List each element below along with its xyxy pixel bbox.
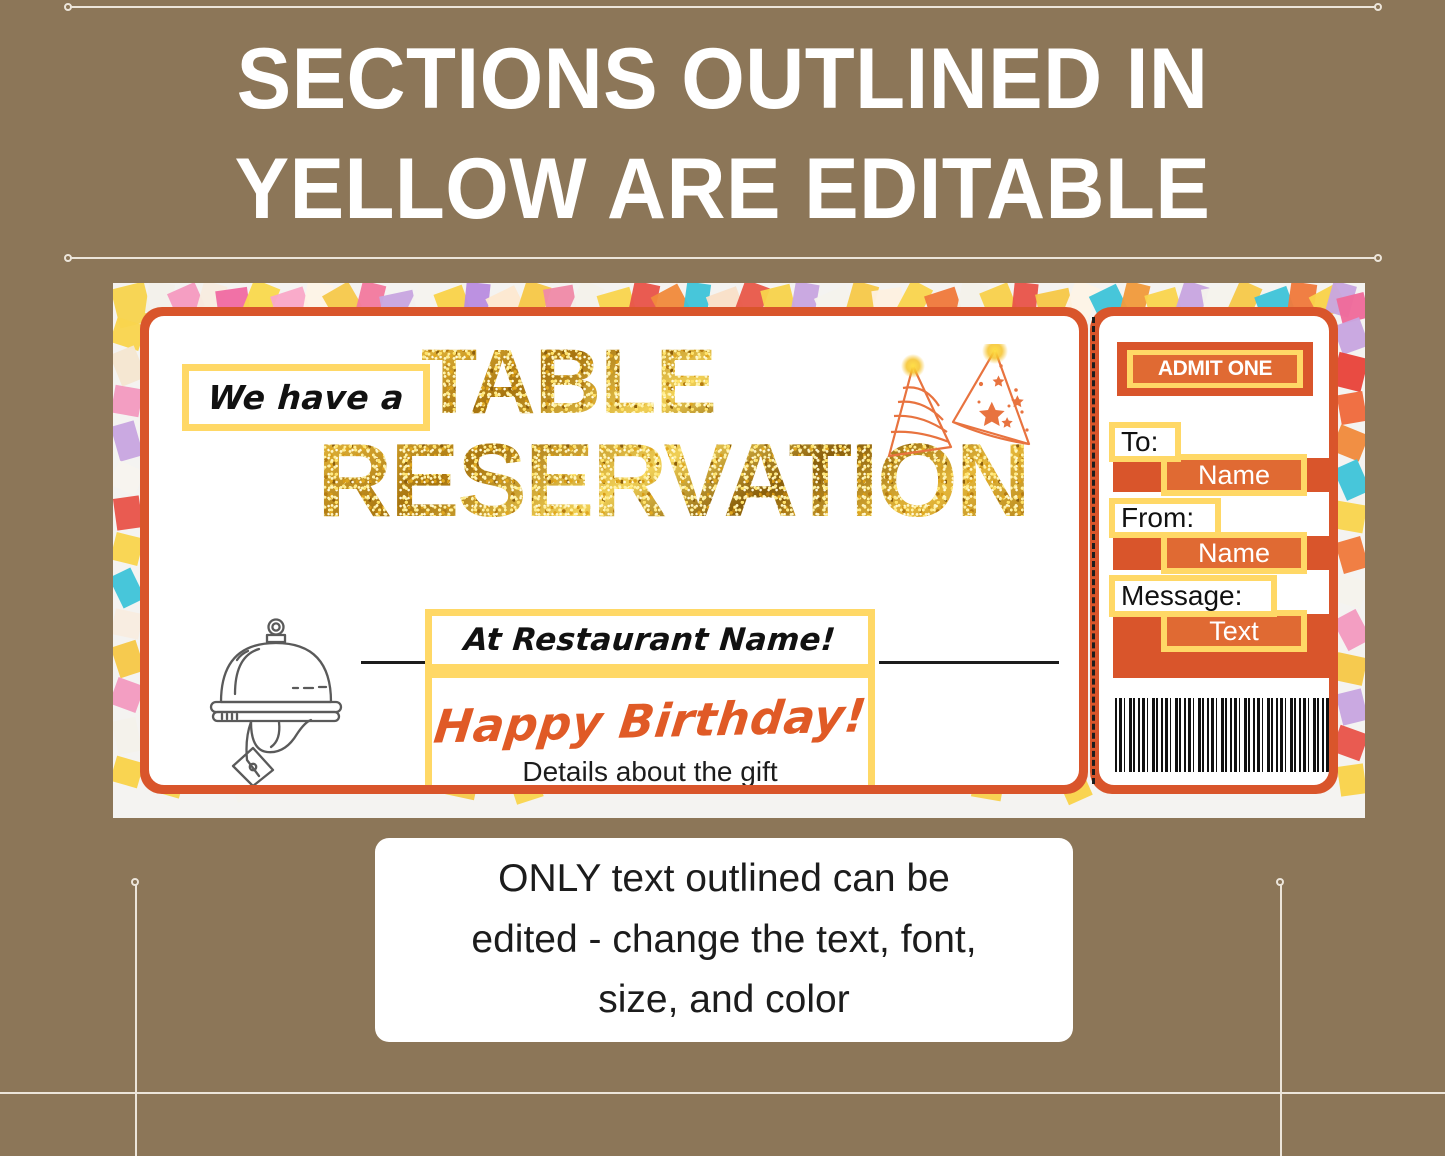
confetti-piece — [113, 385, 143, 417]
perforation-line — [1092, 317, 1095, 784]
caption-text: ONLY text outlined can be edited - chang… — [445, 849, 1002, 1030]
ticket-stub-panel: ADMIT ONE To: Name From: N — [1090, 307, 1338, 794]
confetti-piece — [113, 608, 143, 639]
eyebrow-text: We have a — [207, 378, 406, 417]
confetti-piece — [113, 420, 143, 461]
confetti-piece — [1337, 391, 1365, 425]
confetti-piece — [113, 495, 143, 530]
admit-one-badge: ADMIT ONE — [1117, 342, 1313, 396]
stub-value-from-text: Name — [1198, 540, 1270, 567]
ticket-graphic: We have a TABLE RESERVATION — [140, 307, 1338, 794]
admit-one-label: ADMIT ONE — [1158, 357, 1272, 381]
editable-eyebrow-box[interactable]: We have a — [182, 364, 430, 431]
confetti-piece — [113, 717, 142, 755]
stub-label-from-text: From: — [1121, 504, 1194, 532]
confetti-piece — [1337, 763, 1365, 796]
guide-line-bottom — [0, 1092, 1445, 1094]
stub-value-from[interactable]: Name — [1161, 532, 1307, 574]
stub-label-message[interactable]: Message: — [1109, 575, 1277, 617]
stub-label-to-text: To: — [1121, 428, 1158, 456]
restaurant-name-text: At Restaurant Name! — [463, 622, 838, 658]
serving-tray-icon — [201, 616, 351, 785]
guide-endpoint-dot — [1374, 3, 1382, 11]
stub-value-to-text: Name — [1198, 462, 1270, 489]
guide-endpoint-dot — [64, 3, 72, 11]
guide-endpoint-dot — [1276, 878, 1284, 886]
guide-endpoint-dot — [1374, 254, 1382, 262]
stub-label-from[interactable]: From: — [1109, 498, 1221, 538]
guide-endpoint-dot — [64, 254, 72, 262]
editable-message-box[interactable]: Happy Birthday! Details about the gift — [425, 671, 875, 785]
stub-value-to[interactable]: Name — [1161, 454, 1307, 496]
barcode-icon — [1115, 698, 1329, 772]
confetti-piece — [1335, 536, 1365, 574]
editable-restaurant-box[interactable]: At Restaurant Name! — [425, 609, 875, 671]
ticket-preview: We have a TABLE RESERVATION — [113, 283, 1365, 818]
gift-details-text: Details about the gift — [522, 756, 777, 785]
caption-box: ONLY text outlined can be edited - chang… — [375, 838, 1073, 1042]
stub-label-message-text: Message: — [1121, 582, 1242, 610]
page-headline: SECTIONS OUTLINED IN YELLOW ARE EDITABLE — [36, 24, 1409, 244]
stub-label-to[interactable]: To: — [1109, 422, 1181, 462]
occasion-text: Happy Birthday! — [431, 692, 868, 749]
guide-line-vertical-left — [135, 882, 137, 1156]
guide-line-vertical-right — [1280, 882, 1282, 1156]
ticket-main-panel: We have a TABLE RESERVATION — [140, 307, 1088, 794]
stub-value-message-text: Text — [1209, 618, 1259, 645]
confetti-piece — [1336, 688, 1365, 725]
party-hats-icon — [883, 344, 1061, 469]
divider-line-right-top — [879, 661, 1059, 664]
guide-endpoint-dot — [131, 878, 139, 886]
guide-line-top — [68, 6, 1378, 8]
guide-line-middle — [68, 257, 1378, 259]
